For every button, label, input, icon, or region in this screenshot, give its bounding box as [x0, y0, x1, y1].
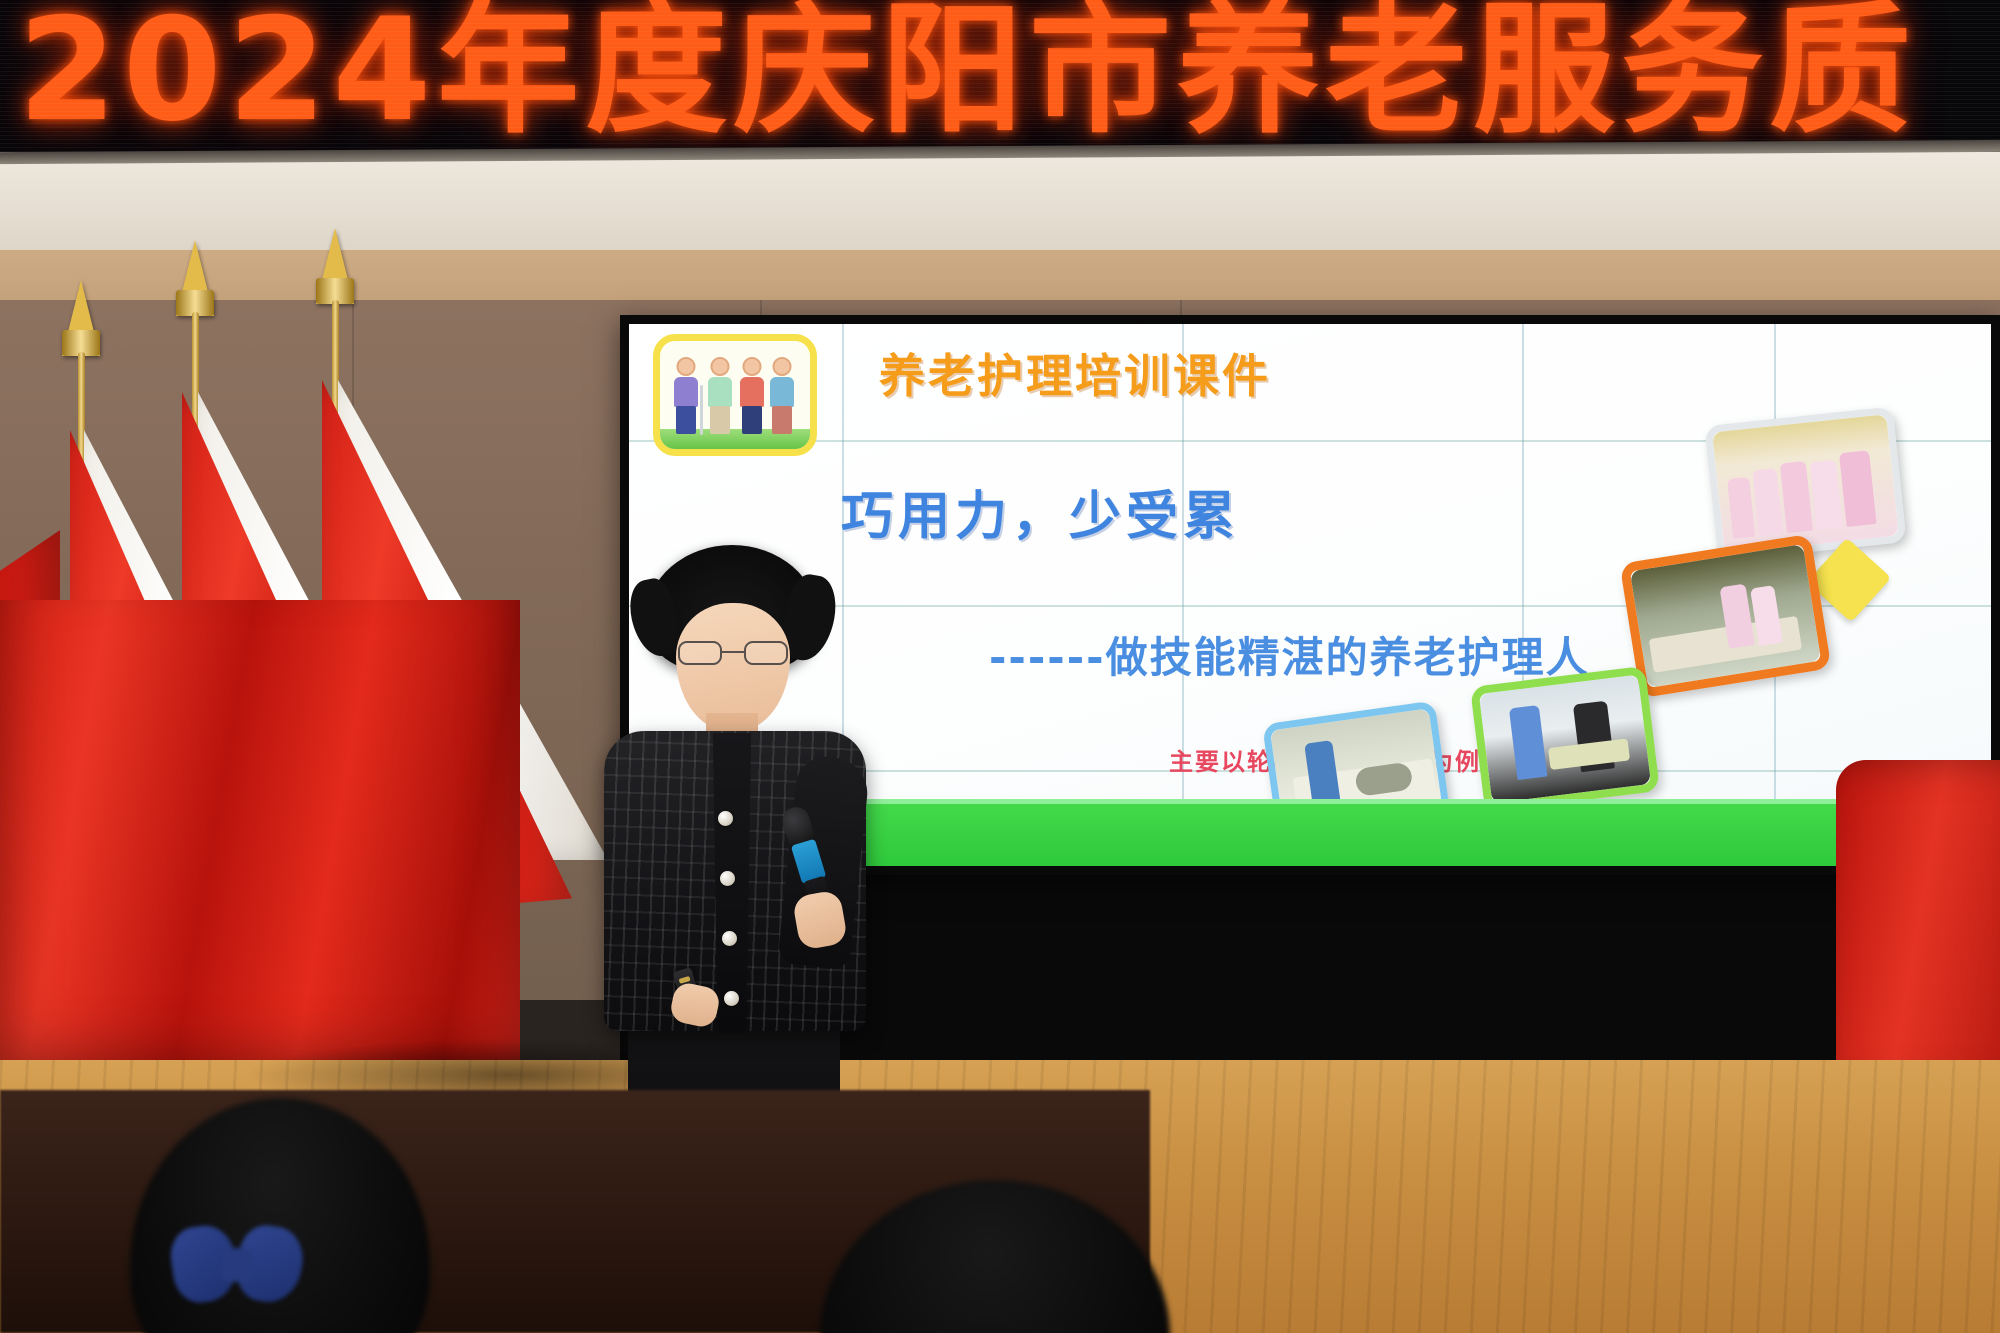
photo-content: [1479, 675, 1651, 804]
elder-torso: [740, 377, 764, 407]
glasses-lens: [744, 641, 788, 665]
nurse-figure: [1810, 460, 1843, 530]
nurse-figure: [1727, 477, 1755, 539]
elder-figure: [674, 377, 698, 435]
presenter: [560, 545, 900, 1145]
bedside-care-photo: [1470, 666, 1660, 813]
walking-cane-icon: [700, 385, 703, 435]
elder-legs: [676, 406, 696, 434]
flag-finial-icon: [62, 280, 100, 356]
elder-head: [711, 357, 730, 376]
elder-legs: [710, 406, 730, 434]
elder-torso: [770, 377, 794, 407]
nurse-figure: [1839, 450, 1877, 527]
bow-knot: [222, 1248, 252, 1282]
led-banner: 2024年度庆阳市养老服务质: [0, 0, 2000, 152]
wall-upper: [0, 150, 2000, 255]
glasses-lens: [678, 641, 722, 665]
elder-figure: [708, 377, 732, 435]
elder-legs: [772, 406, 792, 434]
slide-title: 养老护理培训课件: [879, 340, 1271, 406]
elderly-people-icon: [653, 334, 817, 456]
hospital-bed: [1548, 738, 1630, 770]
elder-figure: [770, 377, 794, 435]
elder-torso: [708, 377, 732, 407]
jacket-button: [722, 931, 737, 946]
elder-head: [773, 357, 792, 376]
photo-content: [1630, 544, 1821, 688]
red-drape-right: [1836, 760, 2000, 1090]
elder-legs: [742, 406, 762, 434]
conference-photo: 2024年度庆阳市养老服务质: [0, 0, 2000, 1333]
flag-finial-icon: [316, 228, 354, 304]
glasses-bridge: [722, 651, 744, 653]
photo-content: [1712, 414, 1899, 554]
ward-training-photo: [1620, 534, 1832, 699]
jacket-button: [720, 871, 735, 886]
led-banner-text: 2024年度庆阳市养老服务质: [18, 0, 1917, 150]
red-drape-left: [0, 600, 520, 1100]
flag-finial-icon: [176, 240, 214, 316]
elder-torso: [674, 377, 698, 407]
jacket-button: [718, 811, 733, 826]
slide-subheading: ------做技能精湛的养老护理人: [989, 624, 1590, 685]
elder-figure: [740, 377, 764, 435]
presenter-face: [676, 603, 790, 731]
elder-head: [743, 357, 762, 376]
hair-bow: [172, 1226, 302, 1302]
jacket-button: [724, 991, 739, 1006]
nurse-figure: [1509, 705, 1548, 780]
glasses-icon: [678, 641, 788, 665]
nurse-figure: [1780, 461, 1813, 533]
nurse-figure: [1752, 468, 1783, 536]
slide-heading: 巧用力，少受累: [841, 474, 1240, 549]
elder-head: [677, 357, 696, 376]
